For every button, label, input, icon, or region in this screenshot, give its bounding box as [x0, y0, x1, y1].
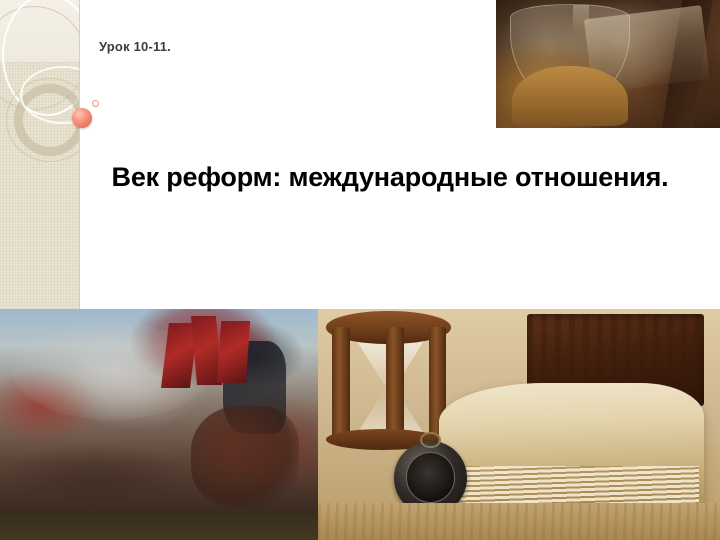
stool-leg: [386, 327, 404, 438]
battle-ground: [0, 512, 318, 540]
hourglass-book-photo: [496, 0, 720, 128]
lesson-label: Урок 10-11.: [99, 39, 171, 54]
presentation-slide: Урок 10-11. Век реформ: международные от…: [0, 0, 720, 540]
desk-surface: [318, 503, 720, 540]
accent-sphere-icon: [72, 108, 92, 128]
hourglass-watch-book-photo: [318, 309, 720, 540]
hourglass-neck: [573, 5, 589, 31]
hourglass-sand: [512, 66, 628, 126]
page-title: Век реформ: международные отношения.: [110, 160, 670, 196]
battle-flag: [217, 321, 250, 383]
battle-horse: [191, 406, 299, 508]
open-antique-book: [439, 383, 704, 512]
stool-leg: [332, 327, 350, 438]
accent-small-circle-icon: [92, 100, 99, 107]
pocket-watch-ring: [420, 432, 440, 448]
decorative-sidebar-panel: [0, 0, 80, 309]
battle-painting: [0, 309, 318, 540]
pocket-watch-face: [406, 452, 455, 502]
